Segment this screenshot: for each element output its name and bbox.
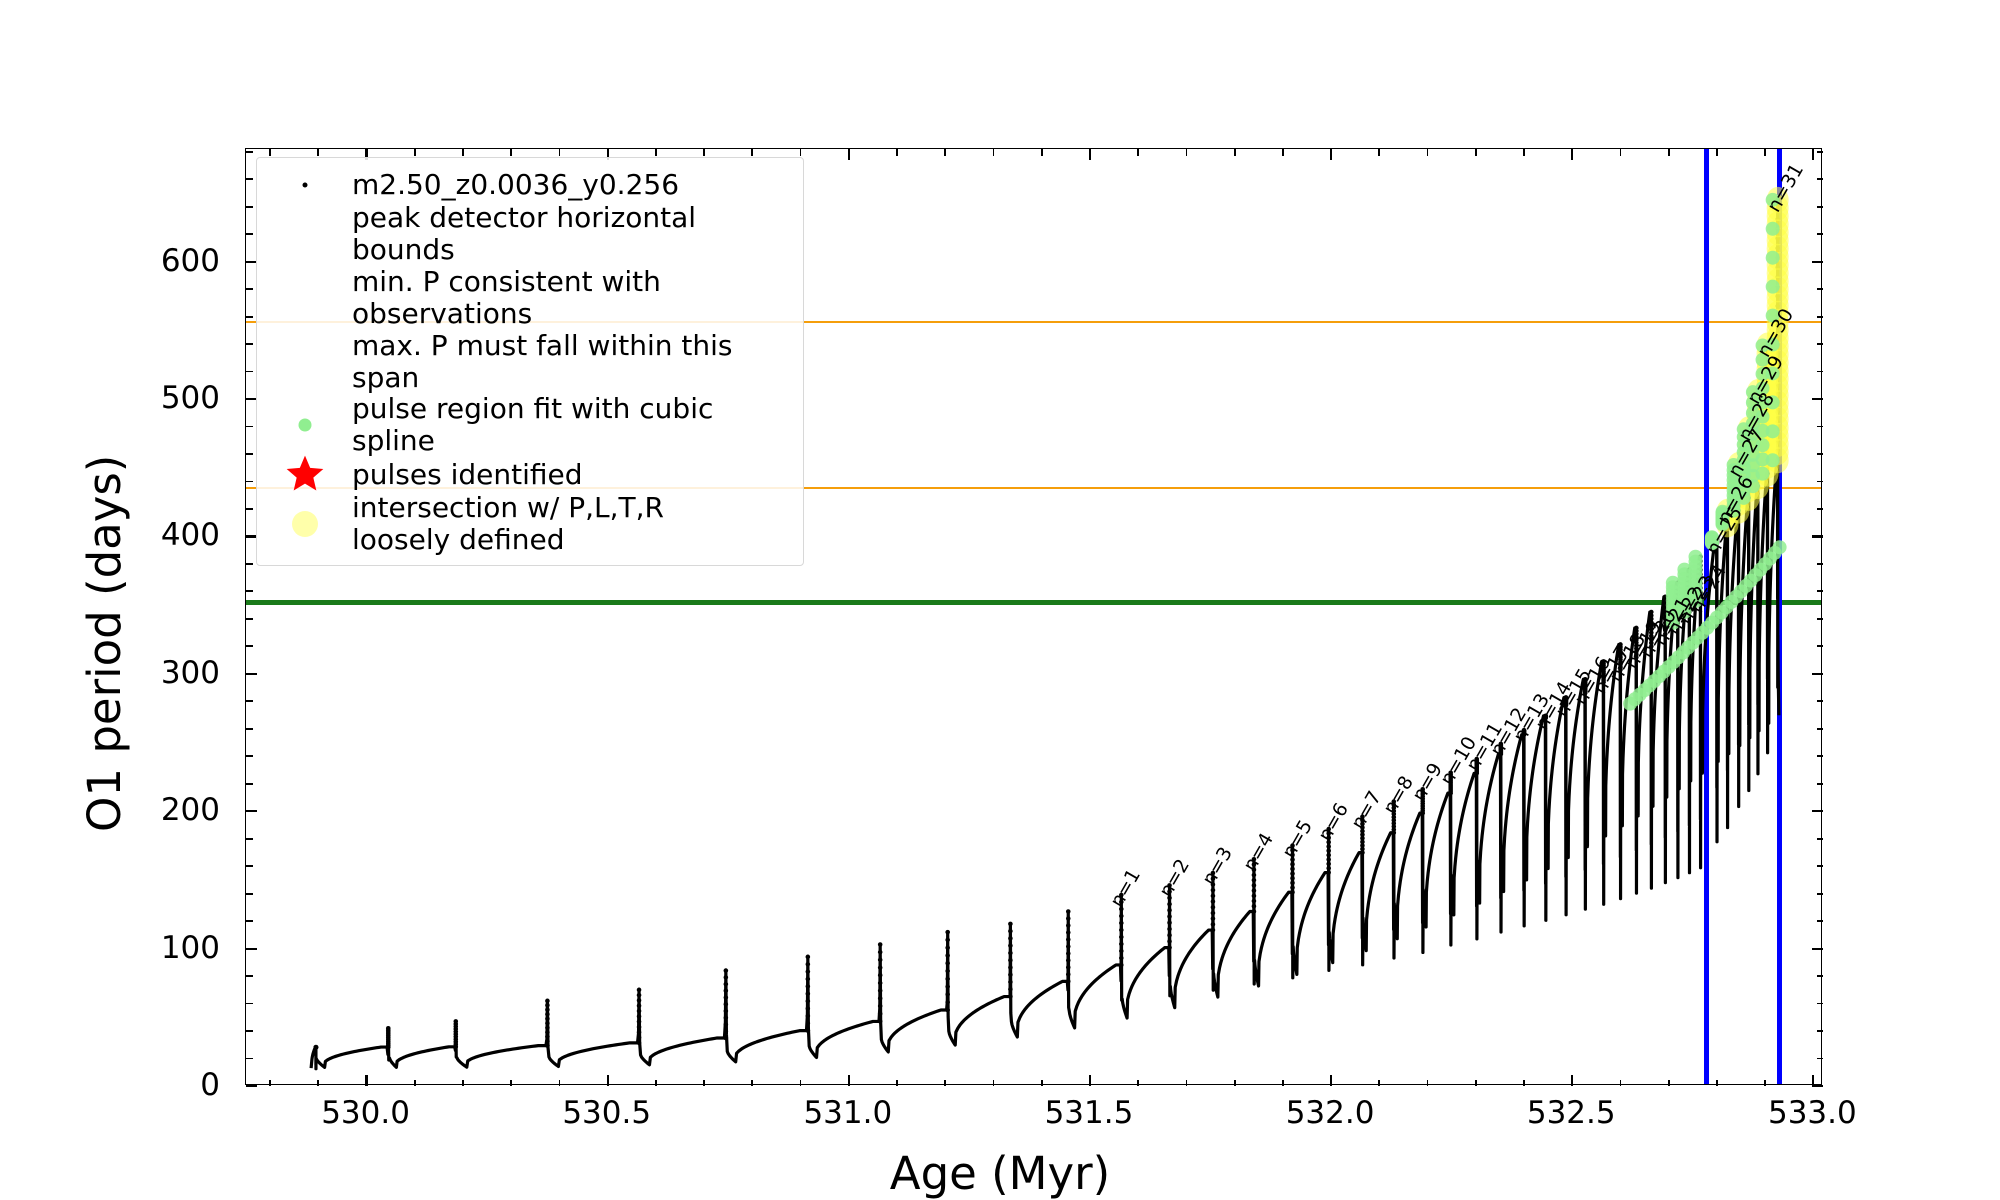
legend-line-swatch <box>268 220 342 248</box>
y-tick-minor <box>246 343 253 345</box>
y-tick-minor <box>246 920 253 922</box>
x-tick-minor <box>559 1080 561 1087</box>
x-tick-minor-top <box>1427 149 1429 156</box>
legend-item-label: pulse region fit with cubic spline <box>352 393 790 457</box>
x-tick-minor <box>896 1080 898 1087</box>
y-tick-minor-right <box>1817 975 1824 977</box>
y-tick-minor-right <box>1817 343 1824 345</box>
legend-item-label: pulses identified <box>352 459 583 491</box>
x-tick-minor-top <box>1137 149 1139 156</box>
x-tick-label: 530.0 <box>321 1095 410 1131</box>
y-tick-minor-right <box>1817 426 1824 428</box>
y-tick-major-right <box>1812 810 1823 812</box>
y-tick-minor <box>246 481 253 483</box>
y-tick-minor <box>246 590 253 592</box>
x-tick-minor-top <box>1234 149 1236 156</box>
y-tick-minor-right <box>1817 151 1824 153</box>
legend-star-swatch <box>268 461 342 489</box>
y-tick-minor <box>246 508 253 510</box>
y-tick-minor-right <box>1817 481 1824 483</box>
y-tick-minor-right <box>1817 563 1824 565</box>
x-tick-minor-top <box>944 149 946 156</box>
y-tick-major-right <box>1812 261 1823 263</box>
y-tick-minor-right <box>1817 288 1824 290</box>
x-tick-minor <box>510 1080 512 1087</box>
legend-item[interactable]: max. P must fall within this span <box>268 330 790 394</box>
x-tick-minor <box>1716 1080 1718 1087</box>
x-tick-major <box>365 1075 367 1086</box>
legend-item-label-line2: loosely defined <box>352 523 565 556</box>
x-tick-major-top <box>1812 149 1814 160</box>
x-tick-minor <box>1137 1080 1139 1087</box>
legend-item-label: min. P consistent with observations <box>352 266 790 330</box>
y-tick-minor <box>246 1003 253 1005</box>
y-tick-minor <box>246 1030 253 1032</box>
legend[interactable]: m2.50_z0.0036_y0.256peak detector horizo… <box>256 157 804 566</box>
y-tick-label: 600 <box>110 243 220 279</box>
x-tick-minor-top <box>1764 149 1766 156</box>
x-tick-minor-top <box>510 149 512 156</box>
y-tick-major <box>246 1085 257 1087</box>
plot-area: n=1n=2n=3n=4n=5n=6n=7n=8n=9n=10n=11n=12n… <box>245 148 1822 1085</box>
figure-canvas: O1 period (days) Age (Myr) n=1n=2n=3n=4n… <box>0 0 2000 1200</box>
x-tick-minor-top <box>703 149 705 156</box>
legend-item[interactable]: pulses identified <box>268 457 790 492</box>
y-tick-minor-right <box>1817 700 1824 702</box>
x-tick-minor-top <box>993 149 995 156</box>
y-tick-minor <box>246 618 253 620</box>
y-tick-minor <box>246 975 253 977</box>
x-tick-major <box>607 1075 609 1086</box>
y-tick-major-right <box>1812 1085 1823 1087</box>
y-tick-minor <box>246 178 253 180</box>
y-tick-minor <box>246 288 253 290</box>
y-tick-minor <box>246 783 253 785</box>
x-tick-minor <box>317 1080 319 1087</box>
legend-item[interactable]: min. P consistent with observations <box>268 266 790 330</box>
x-tick-major <box>848 1075 850 1086</box>
y-tick-minor <box>246 233 253 235</box>
x-tick-major-top <box>848 149 850 160</box>
y-tick-minor <box>246 316 253 318</box>
legend-line-swatch <box>268 171 342 199</box>
legend-dot-swatch <box>268 510 342 538</box>
y-tick-major <box>246 810 257 812</box>
y-tick-minor <box>246 700 253 702</box>
y-tick-minor <box>246 453 253 455</box>
x-tick-minor <box>414 1080 416 1087</box>
x-tick-minor <box>1668 1080 1670 1087</box>
y-tick-label: 200 <box>110 792 220 828</box>
legend-item[interactable]: peak detector horizontal bounds <box>268 202 790 266</box>
y-tick-major-right <box>1812 535 1823 537</box>
y-tick-minor <box>246 371 253 373</box>
legend-item[interactable]: pulse region fit with cubic spline <box>268 393 790 457</box>
x-tick-minor <box>1234 1080 1236 1087</box>
x-tick-label: 532.5 <box>1527 1095 1616 1131</box>
x-tick-minor <box>800 1080 802 1087</box>
y-tick-minor <box>246 755 253 757</box>
x-tick-minor <box>462 1080 464 1087</box>
x-tick-minor <box>269 1080 271 1087</box>
y-tick-minor-right <box>1817 755 1824 757</box>
y-tick-minor-right <box>1817 233 1824 235</box>
y-tick-major-right <box>1812 673 1823 675</box>
x-tick-minor-top <box>1041 149 1043 156</box>
x-tick-label: 531.0 <box>803 1095 892 1131</box>
y-tick-major <box>246 673 257 675</box>
y-tick-minor-right <box>1817 893 1824 895</box>
legend-item-label: peak detector horizontal bounds <box>352 202 790 266</box>
x-tick-minor-top <box>1716 149 1718 156</box>
x-tick-minor <box>1764 1080 1766 1087</box>
star-icon <box>285 453 325 497</box>
y-tick-label: 500 <box>110 380 220 416</box>
x-tick-minor-top <box>1282 149 1284 156</box>
y-tick-minor-right <box>1817 783 1824 785</box>
y-tick-minor-right <box>1817 1003 1824 1005</box>
y-tick-minor-right <box>1817 865 1824 867</box>
y-tick-minor <box>246 838 253 840</box>
y-tick-minor-right <box>1817 1058 1824 1060</box>
y-tick-minor-right <box>1817 838 1824 840</box>
x-tick-minor <box>1282 1080 1284 1087</box>
legend-line-swatch <box>268 284 342 312</box>
x-tick-minor-top <box>1475 149 1477 156</box>
legend-item-label: max. P must fall within this span <box>352 330 790 394</box>
legend-item-label: m2.50_z0.0036_y0.256 <box>352 169 679 201</box>
x-tick-minor <box>993 1080 995 1087</box>
x-tick-minor-top <box>414 149 416 156</box>
x-tick-minor-top <box>269 149 271 156</box>
y-tick-label: 100 <box>110 930 220 966</box>
x-tick-minor-top <box>1378 149 1380 156</box>
y-tick-minor-right <box>1817 453 1824 455</box>
y-tick-minor <box>246 893 253 895</box>
legend-line-swatch <box>268 348 342 376</box>
x-tick-minor <box>703 1080 705 1087</box>
legend-item[interactable]: m2.50_z0.0036_y0.256 <box>268 167 790 202</box>
y-tick-minor <box>246 206 253 208</box>
x-tick-minor-top <box>1186 149 1188 156</box>
y-tick-minor-right <box>1817 728 1824 730</box>
x-axis-label: Age (Myr) <box>0 1147 2000 1200</box>
x-tick-major-top <box>1330 149 1332 160</box>
y-tick-minor <box>246 645 253 647</box>
x-tick-major-top <box>1571 149 1573 160</box>
x-tick-minor-top <box>751 149 753 156</box>
y-tick-minor <box>246 426 253 428</box>
x-tick-label: 530.5 <box>562 1095 651 1131</box>
x-tick-minor-top <box>1523 149 1525 156</box>
x-tick-major <box>1089 1075 1091 1086</box>
legend-item[interactable]: intersection w/ P,L,T,Rloosely defined <box>268 492 790 556</box>
x-tick-minor <box>655 1080 657 1087</box>
y-tick-minor <box>246 563 253 565</box>
y-tick-label: 300 <box>110 655 220 691</box>
y-tick-minor <box>246 1058 253 1060</box>
y-tick-minor-right <box>1817 920 1824 922</box>
x-tick-label: 532.0 <box>1286 1095 1375 1131</box>
y-tick-minor-right <box>1817 590 1824 592</box>
x-tick-minor-top <box>896 149 898 156</box>
y-tick-minor-right <box>1817 618 1824 620</box>
legend-dot-swatch <box>268 411 342 439</box>
y-tick-minor-right <box>1817 645 1824 647</box>
y-tick-minor <box>246 865 253 867</box>
y-tick-minor-right <box>1817 206 1824 208</box>
legend-point-marker <box>303 182 308 187</box>
x-tick-minor <box>1523 1080 1525 1087</box>
x-tick-minor-top <box>317 149 319 156</box>
y-tick-major-right <box>1812 948 1823 950</box>
x-tick-minor-top <box>1620 149 1622 156</box>
y-tick-minor <box>246 728 253 730</box>
x-tick-minor <box>751 1080 753 1087</box>
x-tick-major <box>1571 1075 1573 1086</box>
legend-item-label: intersection w/ P,L,T,Rloosely defined <box>352 492 664 556</box>
y-tick-minor-right <box>1817 316 1824 318</box>
x-tick-major <box>1330 1075 1332 1086</box>
y-tick-label: 0 <box>110 1067 220 1103</box>
x-tick-minor-top <box>655 149 657 156</box>
x-tick-label: 531.5 <box>1045 1095 1134 1131</box>
x-tick-minor <box>1378 1080 1380 1087</box>
y-tick-major <box>246 948 257 950</box>
y-tick-label: 400 <box>110 517 220 553</box>
x-tick-minor <box>1427 1080 1429 1087</box>
x-tick-minor-top <box>462 149 464 156</box>
y-tick-minor-right <box>1817 371 1824 373</box>
y-tick-minor-right <box>1817 508 1824 510</box>
x-tick-minor-top <box>800 149 802 156</box>
y-tick-minor-right <box>1817 1030 1824 1032</box>
x-tick-minor <box>1041 1080 1043 1087</box>
x-tick-minor-top <box>559 149 561 156</box>
y-axis-label: O1 period (days) <box>78 454 131 831</box>
y-tick-minor-right <box>1817 178 1824 180</box>
x-tick-minor <box>1620 1080 1622 1087</box>
x-tick-label: 533.0 <box>1768 1095 1857 1131</box>
y-tick-minor <box>246 151 253 153</box>
x-tick-minor <box>944 1080 946 1087</box>
y-tick-major-right <box>1812 398 1823 400</box>
x-tick-major-top <box>1089 149 1091 160</box>
x-tick-minor-top <box>1668 149 1670 156</box>
x-tick-minor <box>1475 1080 1477 1087</box>
x-tick-minor <box>1186 1080 1188 1087</box>
